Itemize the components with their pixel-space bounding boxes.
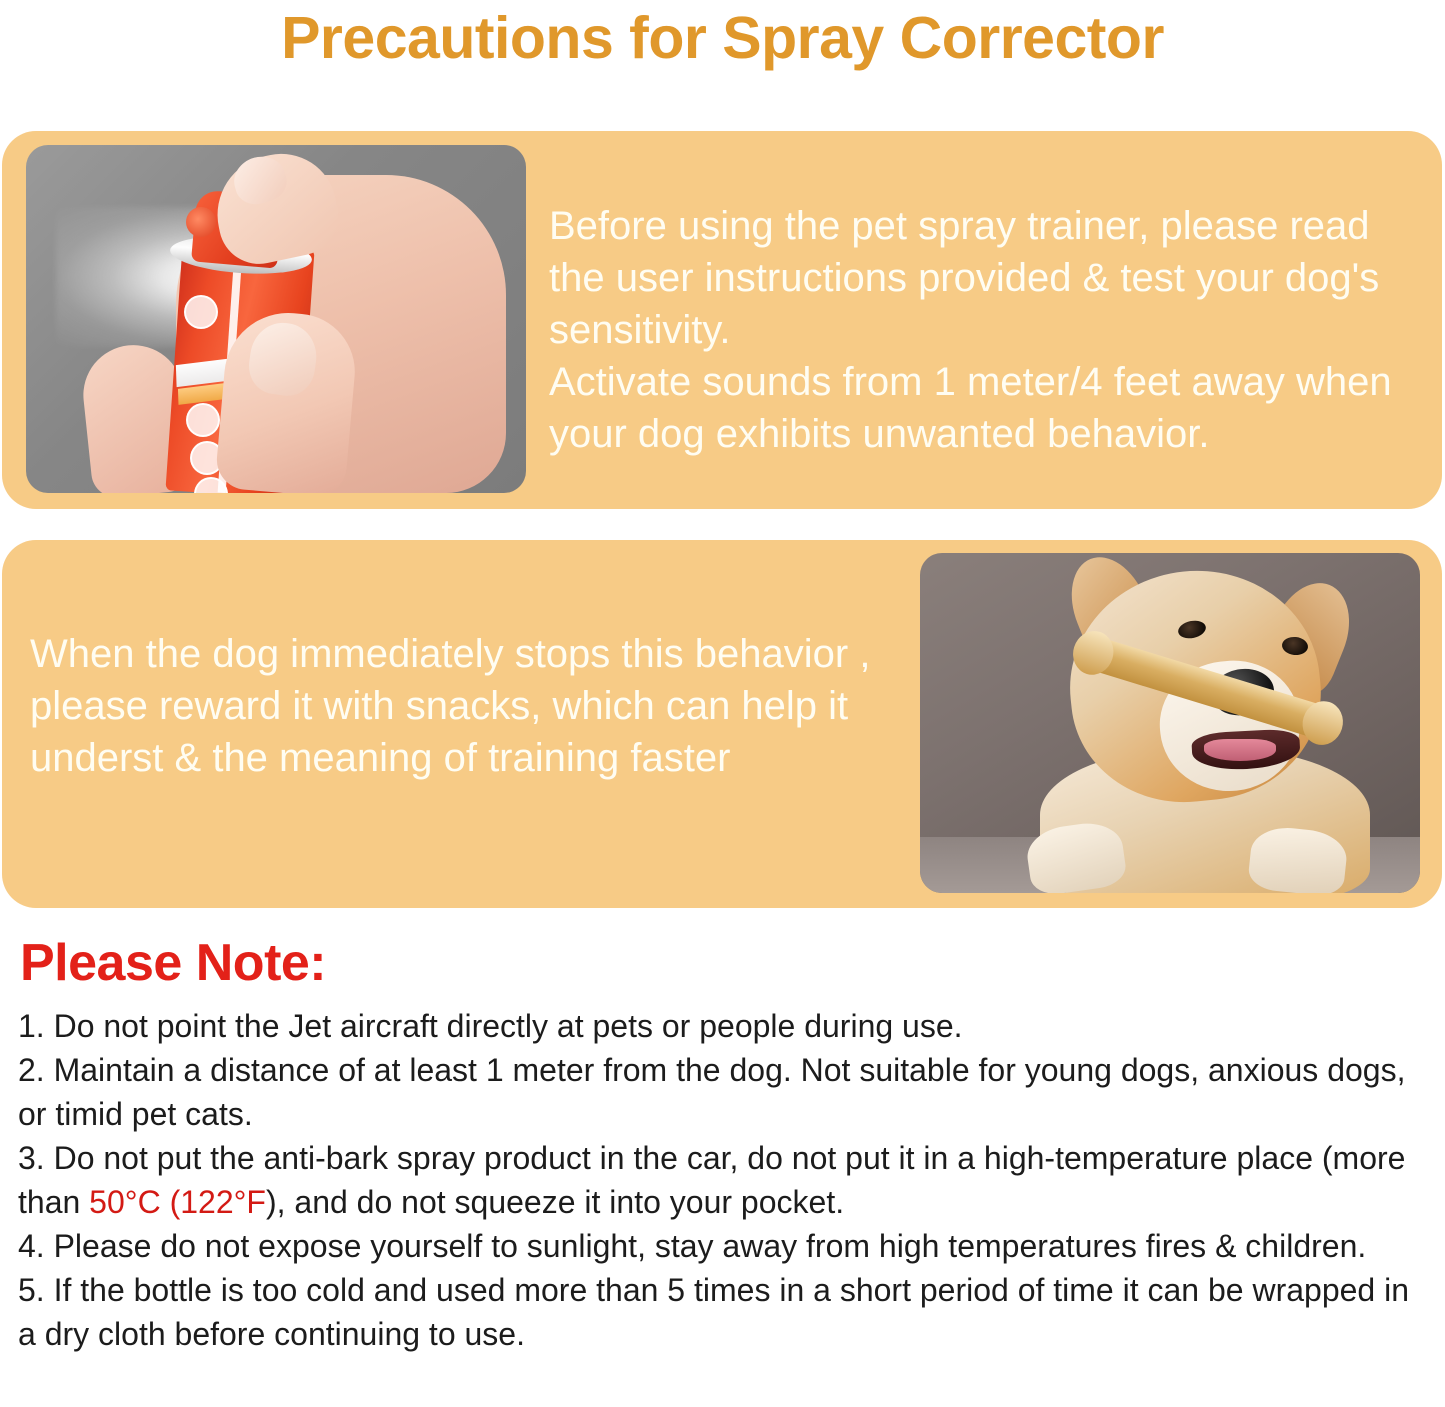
note-item-2: 2. Maintain a distance of at least 1 met…	[18, 1048, 1428, 1136]
corgi-with-treat-photo	[920, 553, 1420, 893]
please-note-heading: Please Note:	[20, 933, 326, 993]
note-item-5: 5. If the bottle is too cold and used mo…	[18, 1268, 1428, 1356]
dog-tongue	[1204, 739, 1276, 761]
note-item-3-suffix: ), and do not squeeze it into your pocke…	[266, 1184, 844, 1220]
can-icon-badge	[186, 403, 220, 437]
precaution-text-2: When the dog immediately stops this beha…	[30, 628, 890, 784]
infographic-page: Precautions for Spray Corrector Before u…	[0, 0, 1445, 1407]
can-icon-badge	[184, 295, 218, 329]
notes-list: 1. Do not point the Jet aircraft directl…	[18, 1004, 1428, 1356]
note-item-1: 1. Do not point the Jet aircraft directl…	[18, 1004, 1428, 1048]
can-nozzle-tip	[186, 207, 216, 237]
page-title: Precautions for Spray Corrector	[0, 4, 1445, 72]
temperature-highlight: 50°C (122°F	[89, 1184, 266, 1220]
precaution-text-1: Before using the pet spray trainer, plea…	[549, 200, 1429, 460]
note-item-4: 4. Please do not expose yourself to sunl…	[18, 1224, 1428, 1268]
note-item-3: 3. Do not put the anti-bark spray produc…	[18, 1136, 1428, 1224]
spray-can-in-hand-photo	[26, 145, 526, 493]
